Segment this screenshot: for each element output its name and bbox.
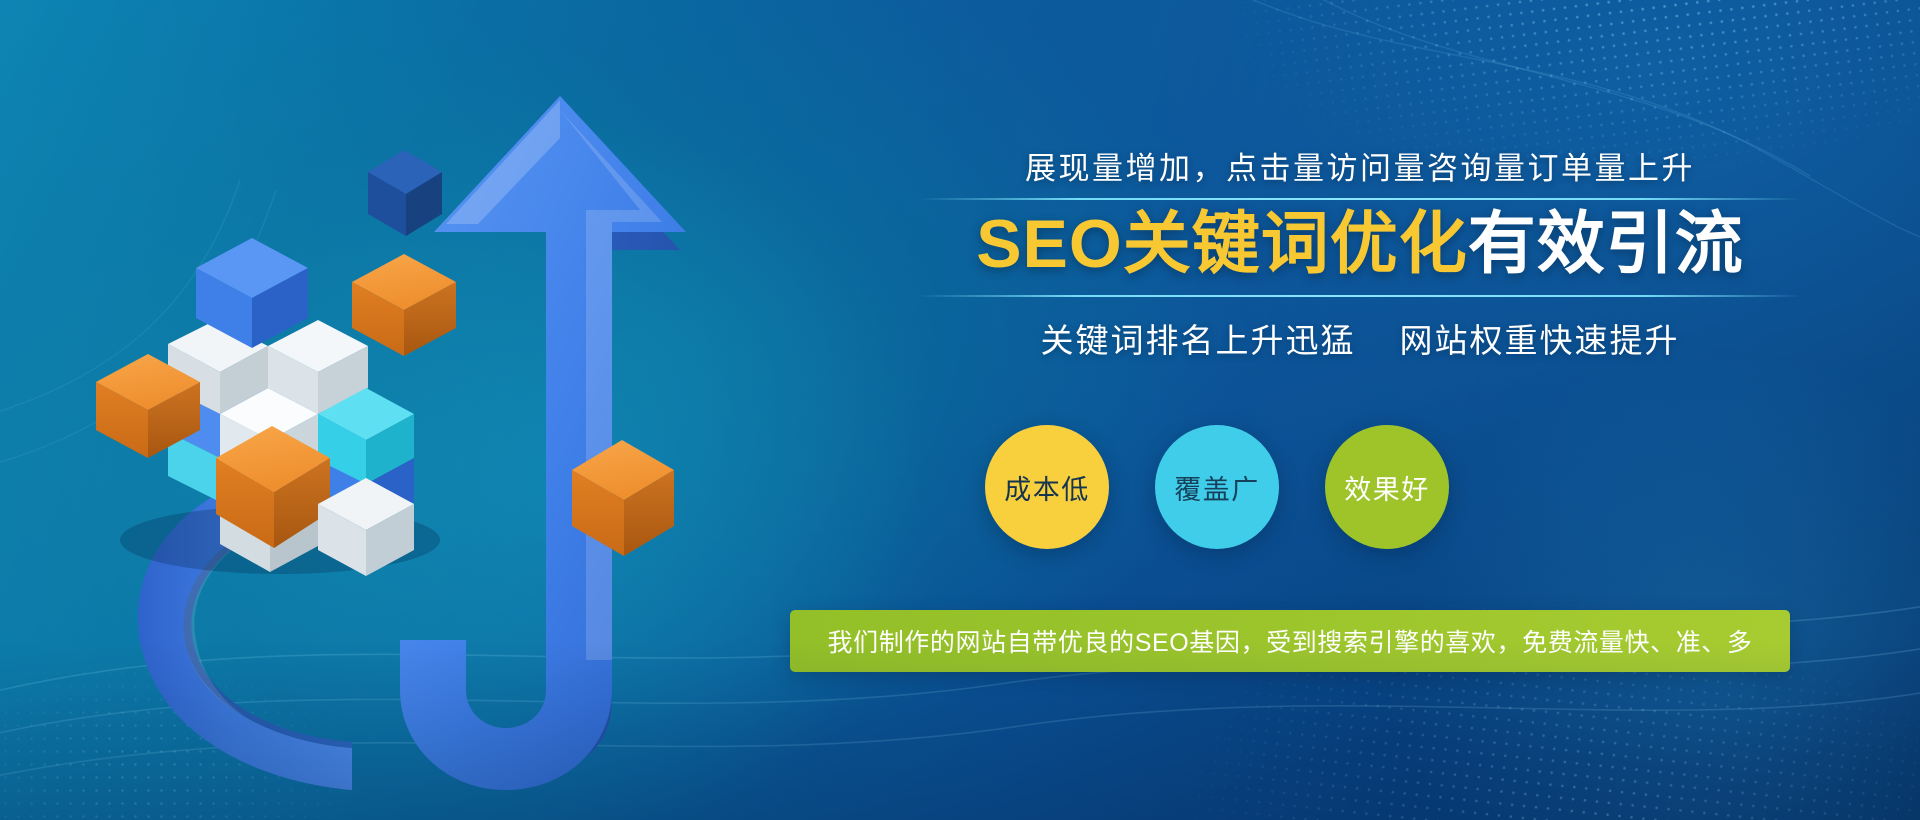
floating-cube-dark-blue-icon <box>368 150 442 236</box>
badge-good-effect[interactable]: 效果好 <box>1325 425 1449 549</box>
badge-wide-coverage-label: 覆盖广 <box>1174 468 1260 507</box>
subline-left: 关键词排名上升迅猛 <box>1041 322 1356 359</box>
badge-low-cost[interactable]: 成本低 <box>985 425 1109 549</box>
headline-rule-wrapper: SEO关键词优化有效引流 <box>890 198 1830 297</box>
detached-cube-orange-top <box>352 254 456 356</box>
rubiks-cube-icon <box>96 238 456 576</box>
badge-good-effect-label: 效果好 <box>1344 468 1430 507</box>
feature-badges: 成本低 覆盖广 效果好 <box>985 425 1449 549</box>
headline-white-part: 有效引流 <box>1468 206 1744 282</box>
tagline-text: 展现量增加，点击量访问量咨询量订单量上升 <box>890 150 1830 189</box>
subline-right: 网站权重快速提升 <box>1400 322 1680 359</box>
bottom-vignette <box>0 640 1920 820</box>
subline-text: 关键词排名上升迅猛网站权重快速提升 <box>890 314 1830 362</box>
badge-low-cost-label: 成本低 <box>1004 468 1090 507</box>
badge-wide-coverage[interactable]: 覆盖广 <box>1155 425 1279 549</box>
headline-block: 展现量增加，点击量访问量咨询量订单量上升 SEO关键词优化有效引流 关键词排名上… <box>890 150 1830 362</box>
seo-banner: 展现量增加，点击量访问量咨询量订单量上升 SEO关键词优化有效引流 关键词排名上… <box>0 0 1920 820</box>
headline-gold-part: SEO关键词优化 <box>976 206 1468 282</box>
page-title: SEO关键词优化有效引流 <box>890 208 1830 281</box>
